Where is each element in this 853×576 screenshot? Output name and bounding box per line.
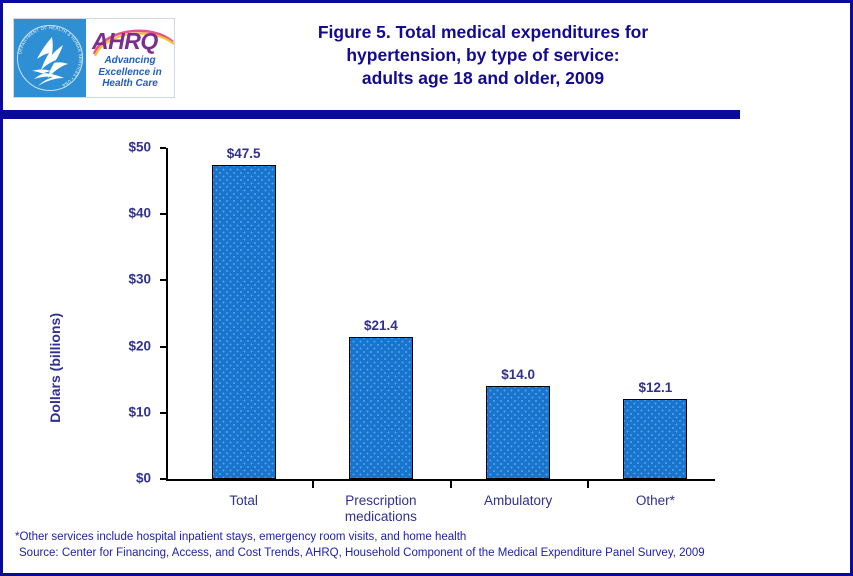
- y-tick-mark: $0: [160, 478, 166, 480]
- x-category-label: Other*: [580, 493, 730, 509]
- ahrq-tagline: Advancing Excellence in Health Care: [86, 55, 174, 90]
- figure-title-line-2: hypertension, by type of service:: [203, 44, 763, 67]
- ahrq-tagline-line-1: Advancing: [86, 55, 174, 67]
- y-tick-label: $30: [128, 272, 151, 287]
- bar-chart: Dollars (billions) $0$10$20$30$40$50 $47…: [3, 123, 850, 523]
- hhs-eagle-icon: [22, 31, 78, 87]
- y-tick-label: $50: [128, 140, 151, 155]
- bar: $14.0: [486, 386, 550, 479]
- bar-value-label: $21.4: [364, 318, 398, 333]
- x-category-label-line: medications: [306, 509, 456, 525]
- ahrq-hhs-logo: DEPARTMENT OF HEALTH & HUMAN SERVICES • …: [13, 18, 175, 98]
- x-category-label: Ambulatory: [443, 493, 593, 509]
- ahrq-wordmark-block: AHRQ Advancing Excellence in Health Care: [86, 19, 174, 97]
- footnote-other: *Other services include hospital inpatie…: [15, 530, 835, 546]
- x-category-label: Prescriptionmedications: [306, 493, 456, 525]
- y-tick-mark: $30: [160, 279, 166, 281]
- y-tick-mark: $50: [160, 147, 166, 149]
- x-tick-mark: [587, 481, 589, 488]
- figure-header: DEPARTMENT OF HEALTH & HUMAN SERVICES • …: [3, 3, 850, 103]
- ahrq-tagline-line-3: Health Care: [86, 78, 174, 90]
- plot-area: $0$10$20$30$40$50 $47.5$21.4$14.0$12.1 T…: [166, 148, 715, 481]
- x-category-label-line: Total: [169, 493, 319, 509]
- bar-value-label: $14.0: [501, 367, 535, 382]
- y-tick-label: $0: [136, 471, 151, 486]
- x-axis-line: [166, 479, 715, 481]
- figure-title: Figure 5. Total medical expenditures for…: [203, 21, 763, 90]
- bar: $21.4: [349, 337, 413, 479]
- figure-title-line-1: Figure 5. Total medical expenditures for: [203, 21, 763, 44]
- y-tick-label: $10: [128, 404, 151, 419]
- hhs-seal-icon: DEPARTMENT OF HEALTH & HUMAN SERVICES • …: [14, 19, 86, 97]
- figure-footnotes: *Other services include hospital inpatie…: [15, 530, 835, 561]
- ahrq-letters: AHRQ: [92, 28, 172, 54]
- y-tick-mark: $10: [160, 412, 166, 414]
- y-axis-line: [166, 148, 168, 481]
- ahrq-tagline-line-2: Excellence in: [86, 67, 174, 79]
- x-category-label-line: Other*: [580, 493, 730, 509]
- footnote-source: Source: Center for Financing, Access, an…: [15, 546, 835, 562]
- bar: $47.5: [212, 165, 276, 479]
- y-tick-mark: $40: [160, 213, 166, 215]
- bar: $12.1: [623, 399, 687, 479]
- x-category-label: Total: [169, 493, 319, 509]
- x-category-label-line: Prescription: [306, 493, 456, 509]
- y-axis-label: Dollars (billions): [47, 313, 67, 423]
- y-tick-mark: $20: [160, 346, 166, 348]
- y-tick-label: $40: [128, 206, 151, 221]
- figure-page: DEPARTMENT OF HEALTH & HUMAN SERVICES • …: [0, 0, 853, 576]
- bar-value-label: $12.1: [638, 380, 672, 395]
- header-divider: [3, 110, 740, 119]
- figure-title-line-3: adults age 18 and older, 2009: [203, 67, 763, 90]
- x-tick-mark: [450, 481, 452, 488]
- x-category-label-line: Ambulatory: [443, 493, 593, 509]
- x-tick-mark: [312, 481, 314, 488]
- y-tick-label: $20: [128, 338, 151, 353]
- bar-value-label: $47.5: [227, 146, 261, 161]
